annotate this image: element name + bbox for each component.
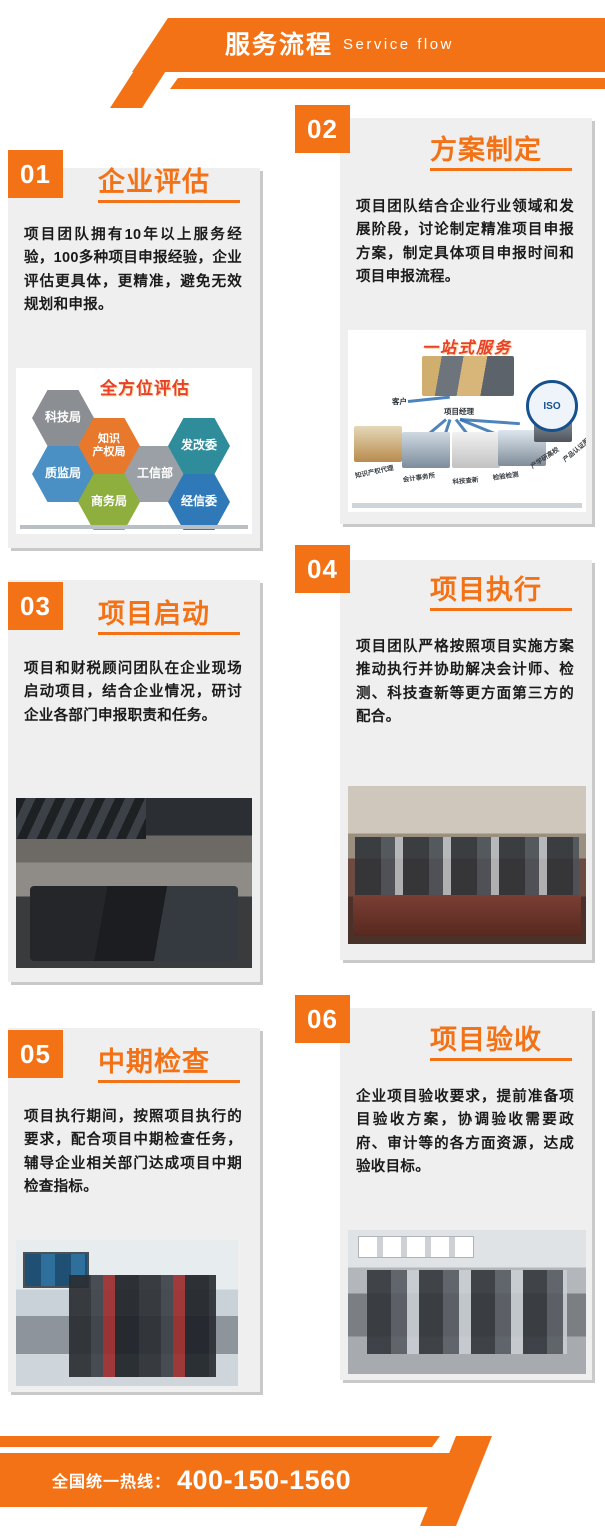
step-title-06: 项目验收 (430, 1018, 542, 1057)
step-title-rule-03 (98, 632, 240, 635)
step-title-04: 项目执行 (430, 568, 542, 607)
step-badge-03: 03 (8, 582, 63, 630)
header-banner: 服务流程 Service flow (0, 0, 605, 100)
hex-diagram-01: 全方位评估 科技局 知识 产权局 质监局 工信部 商务局 发改委 经信委 (16, 368, 252, 534)
step-badge-02: 02 (295, 105, 350, 153)
one-stop-node-search (452, 432, 500, 468)
hex-node-label: 工信部 (137, 467, 173, 481)
page-title: 服务流程 (225, 18, 333, 72)
step-photo-05-site-visit (16, 1240, 238, 1386)
hotline-label: 全国统一热线： (52, 1468, 171, 1492)
step-title-rule-01 (98, 200, 240, 203)
step-badge-06: 06 (295, 995, 350, 1043)
step-title-03: 项目启动 (98, 592, 210, 631)
one-stop-service-label: 会计事务所 (402, 469, 436, 483)
step-title-01: 企业评估 (98, 160, 210, 199)
step-title-05: 中期检查 (98, 1040, 210, 1079)
step-title-rule-04 (430, 608, 572, 611)
one-stop-center-label: 项目经理 (444, 406, 474, 417)
header-thin-stripe (0, 78, 605, 89)
footer-thin-stripe (0, 1436, 605, 1447)
step-photo-04-project-execution (348, 786, 586, 944)
one-stop-title: 一站式服务 (348, 334, 586, 358)
one-stop-client-label: 客户 (392, 396, 407, 407)
step-body-01: 项目团队拥有10年以上服务经验，100多种项目申报经验，企业评估更具体，更精准，… (24, 224, 242, 318)
hex-node-label: 质监局 (45, 467, 81, 481)
footer-hotline-banner: 全国统一热线： 400-150-1560 (0, 1428, 605, 1538)
step-title-rule-02 (430, 168, 572, 171)
step-body-03: 项目和财税顾问团队在企业现场启动项目，结合企业情况，研讨企业各部门申报职责和任务… (24, 658, 242, 728)
hotline-number[interactable]: 400-150-1560 (177, 1465, 351, 1496)
hex-node-label: 商务局 (91, 495, 127, 509)
step-badge-01: 01 (8, 150, 63, 198)
step-title-rule-06 (430, 1058, 572, 1061)
step-title-rule-05 (98, 1080, 240, 1083)
one-stop-service-label: 知识产权代理 (354, 462, 394, 480)
hex-node-label: 经信委 (181, 495, 217, 509)
hex-diagram-title: 全方位评估 (100, 374, 190, 399)
step-body-02: 项目团队结合企业行业领域和发展阶段，讨论制定精准项目申报方案，制定具体项目申报时… (356, 196, 574, 290)
service-flow-infographic: 服务流程 Service flow 01 企业评估 项目团队拥有10年以上服务经… (0, 0, 605, 1538)
step-body-06: 企业项目验收要求，提前准备项目验收方案，协调验收需要政府、审计等的各方面资源，达… (356, 1086, 574, 1180)
one-stop-diagram-02: 一站式服务 客户 项目经理 ISO 知识产权代理 会计事务所 科技查新 检验检测… (348, 330, 586, 512)
one-stop-certification-seal: ISO (526, 380, 578, 432)
seal-label: ISO (543, 401, 560, 412)
step-badge-05: 05 (8, 1030, 63, 1078)
one-stop-node-accounting (402, 432, 450, 468)
header-title-group: 服务流程 Service flow (225, 18, 454, 72)
step-photo-06-acceptance-meeting (348, 1230, 586, 1374)
hex-node-label: 发改委 (181, 439, 217, 453)
page-subtitle: Service flow (343, 18, 454, 72)
hex-node-label: 知识 产权局 (93, 433, 126, 458)
one-stop-node-ip (354, 426, 402, 462)
one-stop-service-label: 科技查新 (452, 474, 479, 486)
step-title-02: 方案制定 (430, 128, 542, 167)
step-badge-04: 04 (295, 545, 350, 593)
step-photo-03-meeting-room (16, 798, 252, 968)
one-stop-arrow (408, 396, 450, 403)
hex-diagram-baseline (20, 525, 248, 529)
one-stop-baseline (352, 503, 582, 508)
footer-hotline-group: 全国统一热线： 400-150-1560 (52, 1453, 351, 1507)
one-stop-center-photo (422, 356, 514, 396)
step-body-05: 项目执行期间，按照项目执行的要求，配合项目中期检查任务，辅导企业相关部门达成项目… (24, 1106, 242, 1200)
one-stop-service-label: 检验检测 (492, 468, 519, 482)
step-body-04: 项目团队严格按照项目实施方案推动执行并协助解决会计师、检测、科技查新等更方面第三… (356, 636, 574, 730)
hex-node-label: 科技局 (45, 411, 81, 425)
